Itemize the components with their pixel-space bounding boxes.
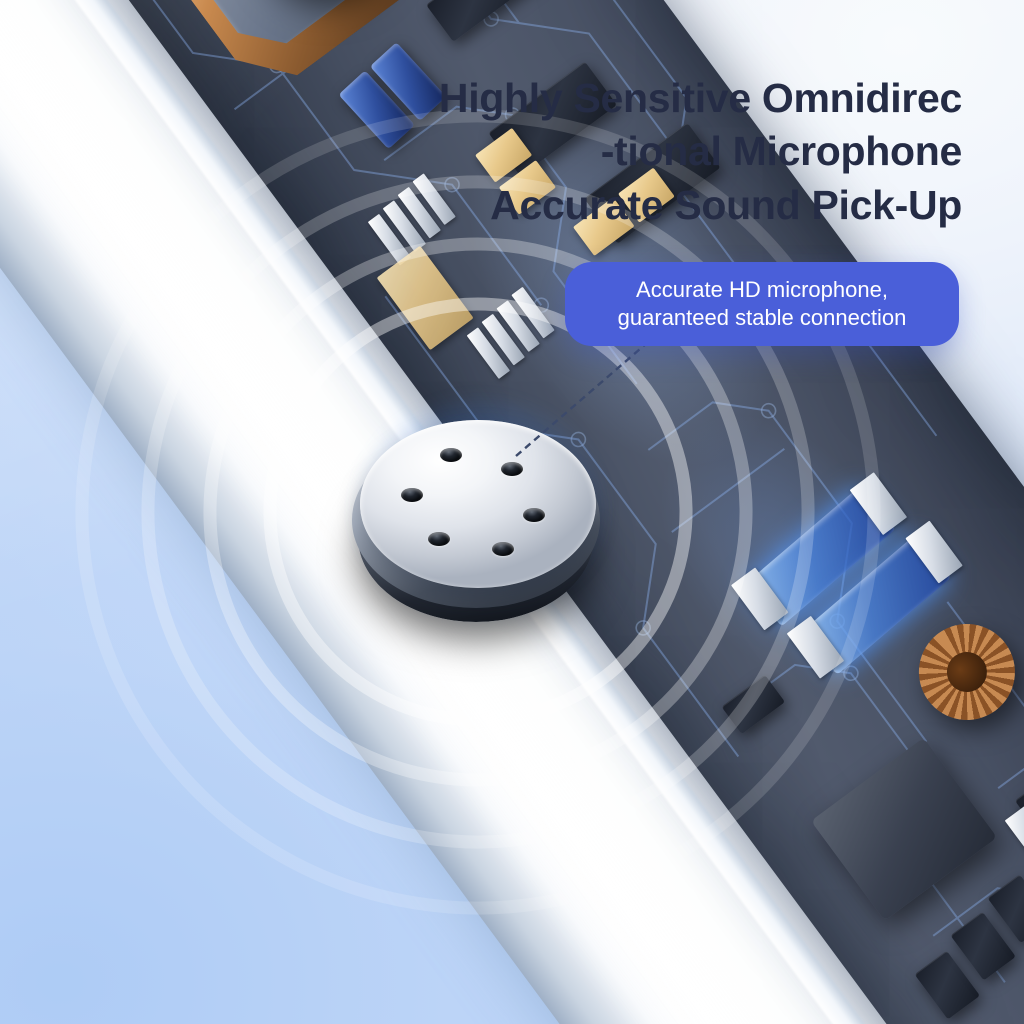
microphone-hole (501, 462, 523, 476)
headline-line-2: -tional Microphone (439, 125, 962, 178)
microphone-hole (428, 532, 450, 546)
callout-badge-text: Accurate HD microphone, guaranteed stabl… (604, 276, 921, 332)
microphone-hole (401, 488, 423, 502)
microphone-hole (440, 448, 462, 462)
callout-line-2: guaranteed stable connection (618, 304, 907, 332)
microphone-face (360, 420, 596, 588)
headline-line-1: Highly Sensitive Omnidirec (439, 72, 962, 125)
product-banner: Highly Sensitive Omnidirec -tional Micro… (0, 0, 1024, 1024)
callout-line-1: Accurate HD microphone, (618, 276, 907, 304)
page-title: Highly Sensitive Omnidirec -tional Micro… (439, 72, 962, 232)
headline-line-3: Accurate Sound Pick-Up (439, 179, 962, 232)
callout-badge: Accurate HD microphone, guaranteed stabl… (565, 262, 959, 346)
microphone-hole (492, 542, 514, 556)
microphone-hole (523, 508, 545, 522)
